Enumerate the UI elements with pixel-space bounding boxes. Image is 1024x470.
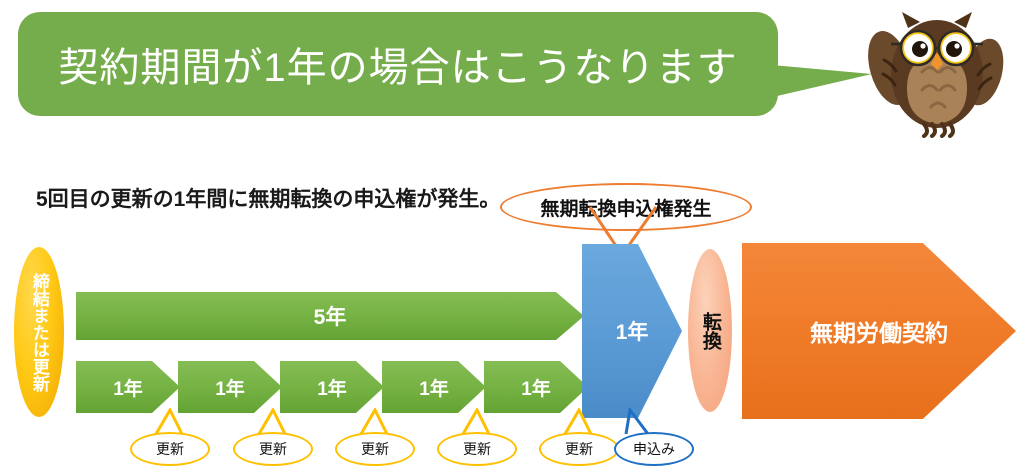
total-period-label: 5年	[314, 301, 347, 331]
sixth-year-label: 1年	[616, 316, 649, 346]
owl-mascot-icon	[862, 6, 1012, 138]
speech-bubble-tail	[760, 64, 872, 100]
year-segment-label: 1年	[521, 374, 551, 401]
renewal-note: 更新	[437, 432, 517, 466]
renewal-note: 更新	[335, 432, 415, 466]
year-segment-label: 1年	[317, 374, 347, 401]
conversion-label: 転換	[699, 312, 721, 350]
caption-text: 5回目の更新の1年間に無期転換の申込権が発生。	[36, 183, 500, 213]
infographic-canvas: 契約期間が1年の場合はこうなります	[0, 0, 1024, 470]
year-segment-arrow: 1年	[382, 361, 486, 413]
year-segment-label: 1年	[215, 374, 245, 401]
application-note-label: 申込み	[633, 439, 675, 459]
renewal-note: 更新	[233, 432, 313, 466]
year-segment-arrow: 1年	[280, 361, 384, 413]
speech-bubble: 契約期間が1年の場合はこうなります	[18, 12, 778, 116]
contract-start-marker: 締結または更新	[14, 247, 64, 417]
year-segment-arrow: 1年	[178, 361, 282, 413]
contract-start-label: 締結または更新	[30, 273, 48, 392]
renewal-note: 更新	[539, 432, 619, 466]
renewal-note-label: 更新	[565, 439, 593, 459]
renewal-note-label: 更新	[463, 439, 491, 459]
renewal-note: 更新	[130, 432, 210, 466]
conversion-marker: 転換	[688, 249, 732, 412]
year-segment-arrow: 1年	[76, 361, 180, 413]
year-segment-label: 1年	[113, 374, 143, 401]
sixth-year-arrow: 1年	[582, 244, 682, 418]
indefinite-contract-arrow: 無期労働契約	[742, 243, 1016, 419]
year-segment-label: 1年	[419, 374, 449, 401]
renewal-note-label: 更新	[156, 439, 184, 459]
year-segment-arrow: 1年	[484, 361, 588, 413]
renewal-note-label: 更新	[361, 439, 389, 459]
renewal-note-label: 更新	[259, 439, 287, 459]
total-period-arrow: 5年	[76, 292, 584, 340]
application-note: 申込み	[614, 432, 694, 466]
speech-bubble-text: 契約期間が1年の場合はこうなります	[58, 35, 737, 93]
indefinite-contract-label: 無期労働契約	[810, 314, 948, 348]
